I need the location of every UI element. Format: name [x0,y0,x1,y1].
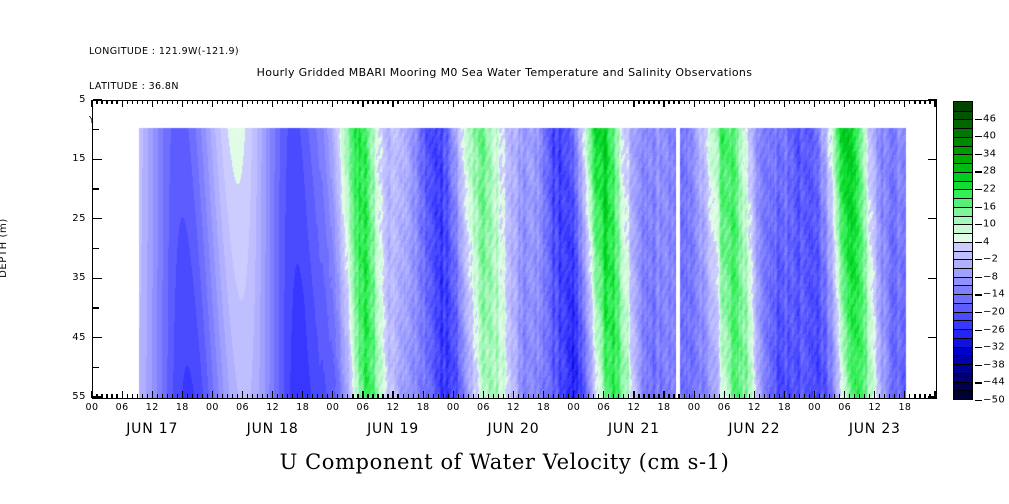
colorbar-separator [954,329,972,330]
x-axis-minor-tick-top [448,100,449,104]
x-axis-tick [122,391,123,398]
x-axis-minor-tick [312,394,313,398]
x-axis-minor-tick [919,394,920,398]
x-axis-minor-tick [157,394,158,398]
colorbar-separator [954,111,972,112]
x-axis-tick [694,391,695,398]
x-axis-minor-tick [834,394,835,398]
y-axis-title: DEPTH (m) [0,188,9,308]
x-axis-minor-tick-top [518,100,519,104]
x-axis-minor-tick-top [794,100,795,104]
x-axis-minor-tick [578,394,579,398]
colorbar-label: −14 [983,289,1005,300]
x-axis-minor-tick [448,394,449,398]
x-axis-minor-tick-top [849,100,850,104]
x-axis-tick-top [453,100,454,107]
x-axis-minor-tick-top [824,100,825,104]
x-axis-hour-label: 18 [296,402,309,413]
x-axis-minor-tick-top [834,100,835,104]
x-axis-minor-tick-top [653,100,654,104]
x-axis-minor-tick [101,394,102,398]
x-axis-tick [754,391,755,398]
x-axis-minor-tick-top [473,100,474,104]
x-axis-minor-tick-top [598,100,599,104]
x-axis-minor-tick [282,394,283,398]
x-axis-minor-tick [894,394,895,398]
y-axis-label: 35 [58,272,86,283]
x-axis-minor-tick [382,394,383,398]
x-axis-tick [272,391,273,398]
x-axis-minor-tick [869,394,870,398]
x-axis-minor-tick-top [282,100,283,104]
x-axis-minor-tick [819,394,820,398]
colorbar-label: 22 [983,183,996,194]
x-axis-minor-tick [643,394,644,398]
x-axis-minor-tick-top [157,100,158,104]
colorbar-label: −26 [983,324,1005,335]
x-axis-minor-tick [548,394,549,398]
x-axis-minor-tick-top [132,100,133,104]
x-axis-minor-tick [734,394,735,398]
x-axis-minor-tick [884,394,885,398]
x-axis-minor-tick [197,394,198,398]
x-axis-minor-tick-top [608,100,609,104]
x-axis-minor-tick-top [267,100,268,104]
x-axis-tick-top [152,100,153,107]
x-axis-minor-tick [779,394,780,398]
x-axis-tick-top [513,100,514,107]
x-axis-tick [423,391,424,398]
x-axis-minor-tick [162,394,163,398]
colorbar-separator [954,189,972,190]
x-axis-minor-tick-top [739,100,740,104]
x-axis-minor-tick-top [864,100,865,104]
x-axis-minor-tick [192,394,193,398]
x-axis-minor-tick [347,394,348,398]
x-axis-minor-tick-top [869,100,870,104]
x-axis-minor-tick-top [257,100,258,104]
x-axis-minor-tick [588,394,589,398]
x-axis-minor-tick-top [147,100,148,104]
x-axis-minor-tick-top [789,100,790,104]
x-axis-minor-tick [568,394,569,398]
x-axis-minor-tick [277,394,278,398]
x-axis-minor-tick [673,394,674,398]
x-axis-minor-tick [418,394,419,398]
x-axis-minor-tick-top [247,100,248,104]
x-axis-minor-tick [428,394,429,398]
x-axis-minor-tick [764,394,765,398]
x-axis-minor-tick-top [397,100,398,104]
x-axis-minor-tick [387,394,388,398]
x-axis-minor-tick [177,394,178,398]
x-axis-minor-tick [433,394,434,398]
x-axis-minor-tick [498,394,499,398]
x-axis-tick-top [573,100,574,107]
x-axis-day-label: JUN 23 [849,421,901,437]
colorbar-separator [954,277,972,278]
x-axis-tick [392,391,393,398]
x-axis-minor-tick [879,394,880,398]
colorbar-tick [975,259,982,260]
x-axis-tick [633,391,634,398]
x-axis-minor-tick-top [689,100,690,104]
colorbar-separator [954,294,972,295]
x-axis-minor-tick [839,394,840,398]
x-axis-minor-tick-top [528,100,529,104]
x-axis-minor-tick [167,394,168,398]
colorbar-separator [954,224,972,225]
x-axis-minor-tick [292,394,293,398]
x-axis-minor-tick [924,394,925,398]
x-axis-minor-tick [438,394,439,398]
x-axis-tick-top [122,100,123,107]
x-axis-minor-tick-top [668,100,669,104]
colorbar-label: 28 [983,166,996,177]
x-axis-minor-tick-top [202,100,203,104]
x-axis-minor-tick-top [468,100,469,104]
x-axis-tick-top [754,100,755,107]
x-axis-minor-tick [317,394,318,398]
y-axis-tick [93,159,102,160]
x-axis-minor-tick-top [307,100,308,104]
x-axis-tick-top [242,100,243,107]
colorbar [953,101,973,400]
x-axis-minor-tick-top [237,100,238,104]
x-axis-minor-tick-top [924,100,925,104]
x-axis-minor-tick-top [167,100,168,104]
y-axis-tick [93,278,102,279]
x-axis-minor-tick [468,394,469,398]
colorbar-tick [975,312,982,313]
x-axis-minor-tick [327,394,328,398]
x-axis-minor-tick-top [548,100,549,104]
colorbar-tick [975,330,982,331]
x-axis-minor-tick [247,394,248,398]
x-axis-tick-top [603,100,604,107]
y-axis-tick-right [928,159,937,160]
colorbar-label: 4 [983,236,990,247]
x-axis-minor-tick-top [553,100,554,104]
x-axis-hour-label: 06 [236,402,249,413]
x-axis-tick [603,391,604,398]
x-axis-minor-tick-top [643,100,644,104]
x-axis-minor-tick [147,394,148,398]
x-axis-minor-tick-top [177,100,178,104]
x-axis-tick-top [362,100,363,107]
x-axis-minor-tick-top [428,100,429,104]
x-axis-tick-top [694,100,695,107]
x-axis-hour-label: 06 [597,402,610,413]
x-axis-hour-label: 18 [537,402,550,413]
x-axis-minor-tick-top [719,100,720,104]
x-axis-minor-tick-top [433,100,434,104]
x-axis-minor-tick-top [884,100,885,104]
x-axis-minor-tick-top [372,100,373,104]
colorbar-separator [954,251,972,252]
x-axis-minor-tick-top [192,100,193,104]
x-axis-minor-tick-top [613,100,614,104]
x-axis-minor-tick [558,394,559,398]
x-axis-tick [453,391,454,398]
x-axis-tick [934,391,935,398]
colorbar-separator [954,390,972,391]
x-axis-hour-label: 12 [507,402,520,413]
x-axis-minor-tick-top [438,100,439,104]
x-axis-tick-top [543,100,544,107]
x-axis-minor-tick-top [312,100,313,104]
x-axis-minor-tick-top [111,100,112,104]
x-axis-minor-tick-top [829,100,830,104]
x-axis-minor-tick-top [403,100,404,104]
x-axis-hour-label: 12 [868,402,881,413]
y-axis-minor-tick [93,188,99,189]
x-axis-tick [814,391,815,398]
x-axis-minor-tick [864,394,865,398]
x-axis-minor-tick [749,394,750,398]
x-axis-tick-top [182,100,183,107]
colorbar-tick [975,365,982,366]
x-axis-minor-tick [553,394,554,398]
x-axis-hour-label: 12 [146,402,159,413]
x-axis-minor-tick-top [538,100,539,104]
x-axis-minor-tick-top [623,100,624,104]
x-axis-tick-top [483,100,484,107]
colorbar-tick [975,136,982,137]
x-axis-minor-tick-top [658,100,659,104]
y-axis-tick [93,218,102,219]
x-axis-minor-tick-top [533,100,534,104]
x-axis-minor-tick-top [418,100,419,104]
longitude-text: LONGITUDE : 121.9W(-121.9) [89,46,239,58]
x-axis-minor-tick-top [277,100,278,104]
x-axis-hour-label: 06 [116,402,129,413]
x-axis-minor-tick-top [749,100,750,104]
x-axis-hour-label: 12 [748,402,761,413]
colorbar-tick [975,119,982,120]
x-axis-minor-tick [142,394,143,398]
x-axis-minor-tick [207,394,208,398]
x-axis-minor-tick [342,394,343,398]
colorbar-band [954,390,972,399]
x-axis-minor-tick [889,394,890,398]
colorbar-label: −8 [983,271,998,282]
x-axis-hour-label: 06 [718,402,731,413]
x-axis-minor-tick-top [292,100,293,104]
x-axis-minor-tick [628,394,629,398]
x-axis-tick-top [392,100,393,107]
x-axis-hour-label: 18 [417,402,430,413]
x-axis-tick-top [91,100,92,107]
x-axis-minor-tick [899,394,900,398]
x-axis-minor-tick-top [588,100,589,104]
x-axis-tick [332,391,333,398]
x-axis-minor-tick [458,394,459,398]
x-axis-minor-tick [739,394,740,398]
x-axis-day-label: JUN 17 [126,421,178,437]
x-axis-minor-tick [854,394,855,398]
x-axis-minor-tick-top [839,100,840,104]
colorbar-separator [954,373,972,374]
colorbar-tick [975,382,982,383]
x-axis-minor-tick [222,394,223,398]
colorbar-separator [954,303,972,304]
x-axis-minor-tick-top [96,100,97,104]
x-axis-minor-tick-top [493,100,494,104]
x-axis-minor-tick-top [227,100,228,104]
colorbar-label: 16 [983,201,996,212]
x-axis-tick [513,391,514,398]
x-axis-minor-tick-top [678,100,679,104]
x-axis-minor-tick [106,394,107,398]
x-axis-minor-tick [493,394,494,398]
x-axis-hour-label: 00 [206,402,219,413]
x-axis-tick-top [332,100,333,107]
x-axis-minor-tick [729,394,730,398]
figure-caption: U Component of Water Velocity (cm s-1) [0,450,1009,474]
x-axis-minor-tick-top [367,100,368,104]
chart-title: Hourly Gridded MBARI Mooring M0 Sea Wate… [0,66,1009,79]
colorbar-tick [975,207,982,208]
x-axis-minor-tick [598,394,599,398]
colorbar-separator [954,285,972,286]
x-axis-minor-tick [257,394,258,398]
x-axis-minor-tick-top [478,100,479,104]
x-axis-minor-tick-top [463,100,464,104]
x-axis-minor-tick [789,394,790,398]
x-axis-minor-tick-top [342,100,343,104]
x-axis-minor-tick-top [699,100,700,104]
x-axis-minor-tick [533,394,534,398]
x-axis-tick [844,391,845,398]
x-axis-minor-tick [593,394,594,398]
x-axis-minor-tick-top [207,100,208,104]
x-axis-minor-tick [443,394,444,398]
x-axis-minor-tick-top [563,100,564,104]
x-axis-minor-tick [563,394,564,398]
x-axis-minor-tick [322,394,323,398]
x-axis-minor-tick-top [322,100,323,104]
colorbar-label: 10 [983,219,996,230]
y-axis-minor-tick [93,367,99,368]
x-axis-minor-tick-top [859,100,860,104]
x-axis-minor-tick-top [317,100,318,104]
x-axis-hour-label: 18 [778,402,791,413]
x-axis-minor-tick [488,394,489,398]
x-axis-minor-tick [96,394,97,398]
x-axis-minor-tick-top [413,100,414,104]
colorbar-tick [975,347,982,348]
colorbar-separator [954,163,972,164]
x-axis-minor-tick-top [387,100,388,104]
x-axis-minor-tick [367,394,368,398]
x-axis-minor-tick-top [352,100,353,104]
x-axis-minor-tick-top [187,100,188,104]
x-axis-minor-tick [116,394,117,398]
x-axis-minor-tick-top [929,100,930,104]
x-axis-minor-tick-top [382,100,383,104]
x-axis-minor-tick-top [704,100,705,104]
y-axis-label: 25 [58,213,86,224]
colorbar-tick [975,242,982,243]
colorbar-tick [975,277,982,278]
x-axis-minor-tick-top [638,100,639,104]
x-axis-minor-tick [508,394,509,398]
x-axis-tick-top [874,100,875,107]
velocity-heatmap-canvas [93,101,936,398]
colorbar-separator [954,172,972,173]
x-axis-minor-tick-top [744,100,745,104]
x-axis-tick-top [724,100,725,107]
colorbar-tick [975,154,982,155]
x-axis-minor-tick [829,394,830,398]
x-axis-minor-tick [538,394,539,398]
x-axis-tick-top [844,100,845,107]
x-axis-minor-tick-top [503,100,504,104]
x-axis-minor-tick-top [568,100,569,104]
x-axis-minor-tick [794,394,795,398]
x-axis-hour-label: 12 [387,402,400,413]
x-axis-minor-tick [408,394,409,398]
x-axis-tick [302,391,303,398]
x-axis-hour-label: 00 [447,402,460,413]
x-axis-hour-label: 00 [688,402,701,413]
x-axis-minor-tick-top [162,100,163,104]
y-axis-label: 15 [58,153,86,164]
x-axis-minor-tick-top [889,100,890,104]
x-axis-minor-tick [668,394,669,398]
y-axis-label: 45 [58,332,86,343]
x-axis-minor-tick-top [799,100,800,104]
y-axis-label: 55 [58,391,86,402]
x-axis-tick-top [784,100,785,107]
x-axis-tick [904,391,905,398]
x-axis-minor-tick-top [508,100,509,104]
colorbar-tick [975,171,982,172]
x-axis-minor-tick-top [618,100,619,104]
x-axis-minor-tick [638,394,639,398]
x-axis-minor-tick-top [377,100,378,104]
x-axis-minor-tick-top [894,100,895,104]
x-axis-minor-tick-top [909,100,910,104]
x-axis-minor-tick [473,394,474,398]
x-axis-hour-label: 00 [86,402,99,413]
colorbar-label: −38 [983,359,1005,370]
colorbar-label: −20 [983,307,1005,318]
x-axis-minor-tick-top [222,100,223,104]
x-axis-minor-tick [217,394,218,398]
x-axis-day-label: JUN 21 [608,421,660,437]
x-axis-minor-tick [759,394,760,398]
x-axis-minor-tick [929,394,930,398]
colorbar-separator [954,128,972,129]
x-axis-minor-tick-top [232,100,233,104]
x-axis-minor-tick-top [488,100,489,104]
x-axis-minor-tick [352,394,353,398]
colorbar-separator [954,382,972,383]
x-axis-minor-tick-top [137,100,138,104]
x-axis-minor-tick-top [819,100,820,104]
x-axis-minor-tick [463,394,464,398]
x-axis-minor-tick [684,394,685,398]
x-axis-tick [874,391,875,398]
x-axis-minor-tick-top [628,100,629,104]
x-axis-minor-tick-top [879,100,880,104]
x-axis-minor-tick [297,394,298,398]
x-axis-hour-label: 06 [838,402,851,413]
x-axis-minor-tick-top [197,100,198,104]
x-axis-tick [663,391,664,398]
